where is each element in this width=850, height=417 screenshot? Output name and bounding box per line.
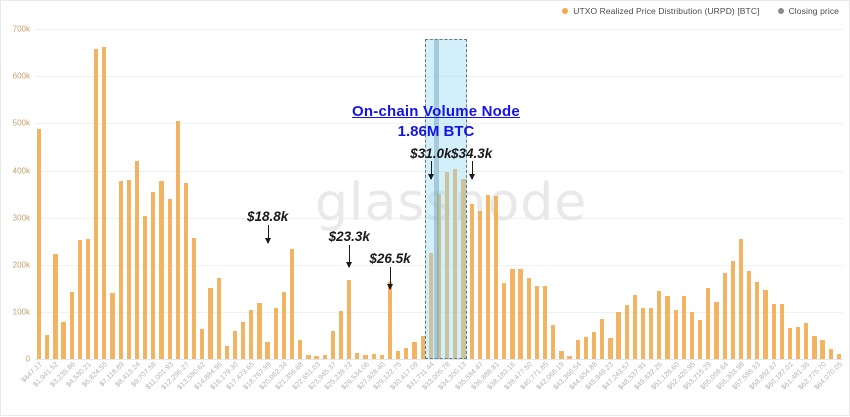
bar[interactable]	[502, 283, 506, 359]
y-axis-tick: 700k	[13, 25, 30, 34]
bar[interactable]	[151, 192, 155, 359]
bar[interactable]	[763, 290, 767, 359]
bar[interactable]	[551, 325, 555, 359]
bar[interactable]	[714, 302, 718, 359]
y-axis-tick: 500k	[13, 119, 30, 128]
legend-dot-urpd	[562, 8, 568, 14]
bar[interactable]	[796, 327, 800, 360]
chart-legend: UTXO Realized Price Distribution (URPD) …	[562, 6, 839, 16]
price-annotation-arrow	[431, 161, 432, 179]
bar[interactable]	[94, 49, 98, 359]
y-axis-tick: 300k	[13, 213, 30, 222]
bar[interactable]	[755, 282, 759, 359]
bar[interactable]	[567, 356, 571, 359]
urpd-chart: UTXO Realized Price Distribution (URPD) …	[0, 0, 850, 416]
legend-label-closing-price: Closing price	[789, 6, 839, 16]
y-axis-tick: 600k	[13, 72, 30, 81]
bar[interactable]	[249, 310, 253, 359]
bar[interactable]	[53, 254, 57, 359]
bar-series	[35, 15, 843, 359]
bar[interactable]	[192, 238, 196, 359]
bar[interactable]	[453, 169, 457, 359]
bar[interactable]	[731, 261, 735, 359]
bar[interactable]	[576, 340, 580, 359]
bar[interactable]	[314, 356, 318, 359]
bar[interactable]	[306, 355, 310, 359]
bar[interactable]	[388, 282, 392, 359]
bar[interactable]	[804, 323, 808, 359]
bar[interactable]	[265, 342, 269, 359]
bar[interactable]	[396, 351, 400, 359]
bar[interactable]	[829, 349, 833, 359]
bar[interactable]	[339, 311, 343, 359]
bar[interactable]	[543, 286, 547, 359]
bar[interactable]	[412, 342, 416, 359]
bar[interactable]	[159, 181, 163, 359]
bar[interactable]	[478, 211, 482, 359]
price-annotation-label: $26.5k	[369, 251, 410, 266]
bar[interactable]	[780, 304, 784, 359]
bar[interactable]	[649, 308, 653, 359]
bar[interactable]	[45, 335, 49, 359]
bar[interactable]	[355, 353, 359, 359]
bar[interactable]	[110, 293, 114, 359]
bar[interactable]	[747, 271, 751, 359]
bar[interactable]	[820, 340, 824, 359]
bar[interactable]	[535, 286, 539, 359]
bar[interactable]	[772, 304, 776, 359]
bar[interactable]	[461, 179, 465, 359]
y-axis-labels: 0100k200k300k400k500k600k700k	[1, 15, 35, 359]
y-axis-tick: 400k	[13, 166, 30, 175]
bar[interactable]	[61, 322, 65, 359]
bar[interactable]	[494, 196, 498, 359]
bar[interactable]	[812, 336, 816, 359]
bar[interactable]	[290, 249, 294, 359]
bar[interactable]	[184, 183, 188, 359]
x-axis-labels: $647.17$1,941.52$3,235.86$4,530.21$5,824…	[35, 361, 843, 417]
legend-label-urpd: UTXO Realized Price Distribution (URPD) …	[573, 6, 759, 16]
bar[interactable]	[421, 336, 425, 359]
bar[interactable]	[665, 296, 669, 359]
bar[interactable]	[510, 269, 514, 359]
bar[interactable]	[217, 278, 221, 359]
bar[interactable]	[331, 331, 335, 359]
bar[interactable]	[559, 351, 563, 359]
bar[interactable]	[690, 312, 694, 359]
bar[interactable]	[682, 296, 686, 359]
bar[interactable]	[657, 291, 661, 359]
bar[interactable]	[347, 280, 351, 359]
price-annotation-label: $34.3k	[451, 146, 492, 161]
bar[interactable]	[233, 331, 237, 359]
bar[interactable]	[706, 288, 710, 359]
bar[interactable]	[470, 204, 474, 360]
bar[interactable]	[323, 355, 327, 359]
price-annotation-arrow	[390, 267, 391, 289]
price-annotation-arrow	[268, 225, 269, 243]
legend-item-closing-price[interactable]: Closing price	[778, 6, 839, 16]
bar[interactable]	[429, 253, 433, 359]
y-axis-tick: 0	[26, 355, 30, 364]
volume-node-annotation: On-chain Volume Node 1.86M BTC	[352, 103, 520, 140]
bar[interactable]	[168, 199, 172, 359]
bar[interactable]	[608, 338, 612, 359]
volume-node-subtitle: 1.86M BTC	[352, 123, 520, 140]
bar[interactable]	[518, 269, 522, 359]
price-annotation-arrow	[349, 245, 350, 267]
bar[interactable]	[592, 332, 596, 359]
bar[interactable]	[486, 195, 490, 359]
bar[interactable]	[257, 303, 261, 359]
price-annotation-label: $23.3k	[329, 229, 370, 244]
bar[interactable]	[225, 346, 229, 359]
bar[interactable]	[135, 161, 139, 359]
bar[interactable]	[282, 292, 286, 359]
bar[interactable]	[674, 310, 678, 359]
volume-node-title: On-chain Volume Node	[352, 103, 520, 120]
price-annotation-label: $31.0k	[410, 146, 451, 161]
bar[interactable]	[176, 121, 180, 359]
bar[interactable]	[274, 308, 278, 359]
bar[interactable]	[298, 340, 302, 359]
bar[interactable]	[641, 308, 645, 359]
bar[interactable]	[86, 239, 90, 359]
legend-dot-closing-price	[778, 8, 784, 14]
bar[interactable]	[372, 354, 376, 359]
price-annotation-label: $18.8k	[247, 209, 288, 224]
bar[interactable]	[698, 320, 702, 359]
bar[interactable]	[78, 240, 82, 359]
bar[interactable]	[723, 273, 727, 359]
y-axis-tick: 100k	[13, 307, 30, 316]
bar[interactable]	[127, 180, 131, 359]
bar[interactable]	[445, 172, 449, 359]
bar[interactable]	[633, 295, 637, 359]
bar[interactable]	[143, 216, 147, 359]
legend-item-urpd[interactable]: UTXO Realized Price Distribution (URPD) …	[562, 6, 759, 16]
bar[interactable]	[404, 348, 408, 359]
plot-area: glassnode	[35, 15, 843, 359]
bar[interactable]	[380, 355, 384, 359]
y-axis-tick: 200k	[13, 260, 30, 269]
bar[interactable]	[625, 305, 629, 359]
bar[interactable]	[616, 312, 620, 359]
bar[interactable]	[584, 337, 588, 359]
bar[interactable]	[363, 355, 367, 359]
gridline	[35, 359, 843, 360]
bar[interactable]	[200, 329, 204, 359]
bar[interactable]	[437, 194, 441, 359]
bar[interactable]	[739, 239, 743, 359]
bar[interactable]	[837, 354, 841, 359]
bar[interactable]	[119, 181, 123, 359]
bar[interactable]	[241, 322, 245, 359]
bar[interactable]	[70, 292, 74, 359]
bar[interactable]	[102, 47, 106, 359]
bar[interactable]	[37, 129, 41, 359]
bar[interactable]	[527, 278, 531, 359]
bar[interactable]	[788, 328, 792, 359]
bar[interactable]	[208, 288, 212, 359]
price-annotation-arrow	[472, 161, 473, 179]
bar[interactable]	[600, 319, 604, 359]
